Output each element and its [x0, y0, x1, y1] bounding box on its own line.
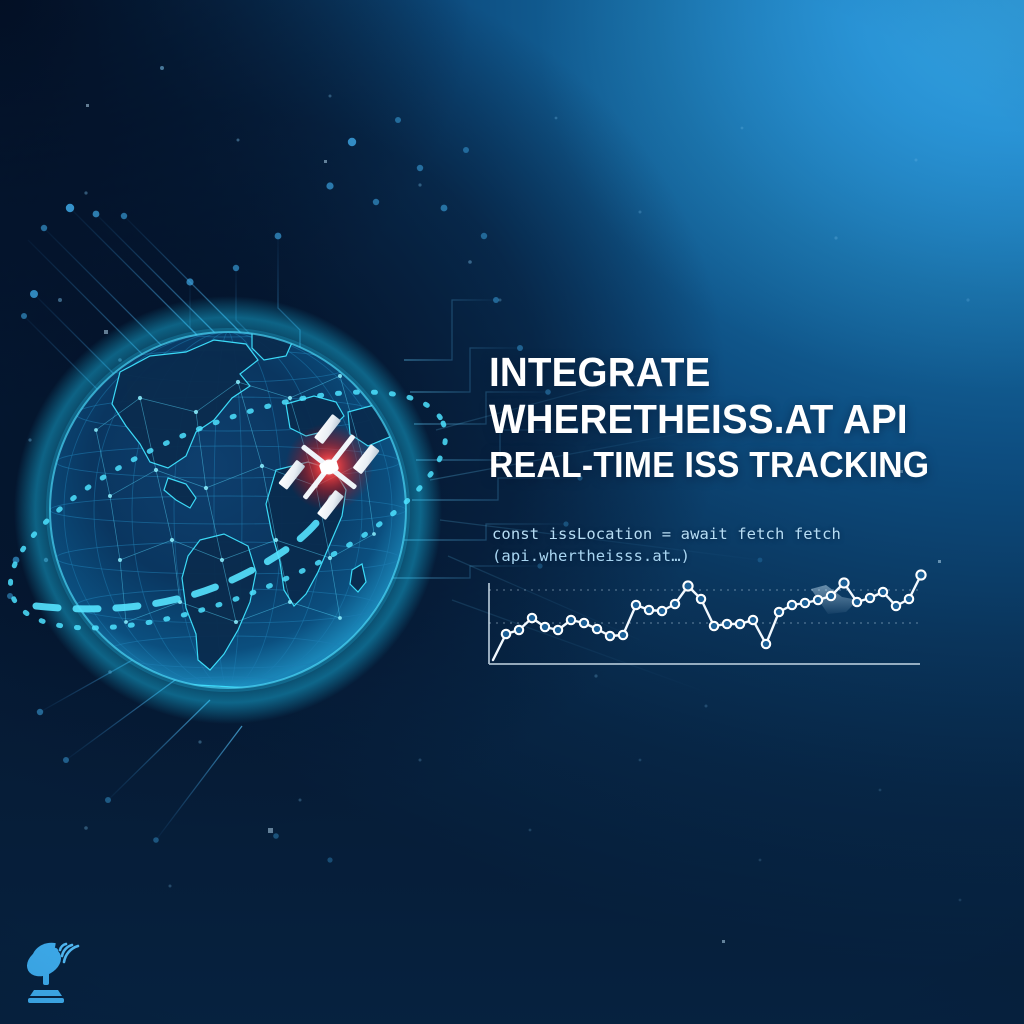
satellite-dish-icon	[24, 938, 88, 1008]
hero-graphic-canvas: INTEGRATE WHERETHEISS.AT API REAL-TIME I…	[0, 0, 1024, 1024]
chart-data-markers	[502, 570, 926, 648]
chart-series-line	[493, 575, 921, 660]
telemetry-line-chart	[0, 0, 1024, 1024]
